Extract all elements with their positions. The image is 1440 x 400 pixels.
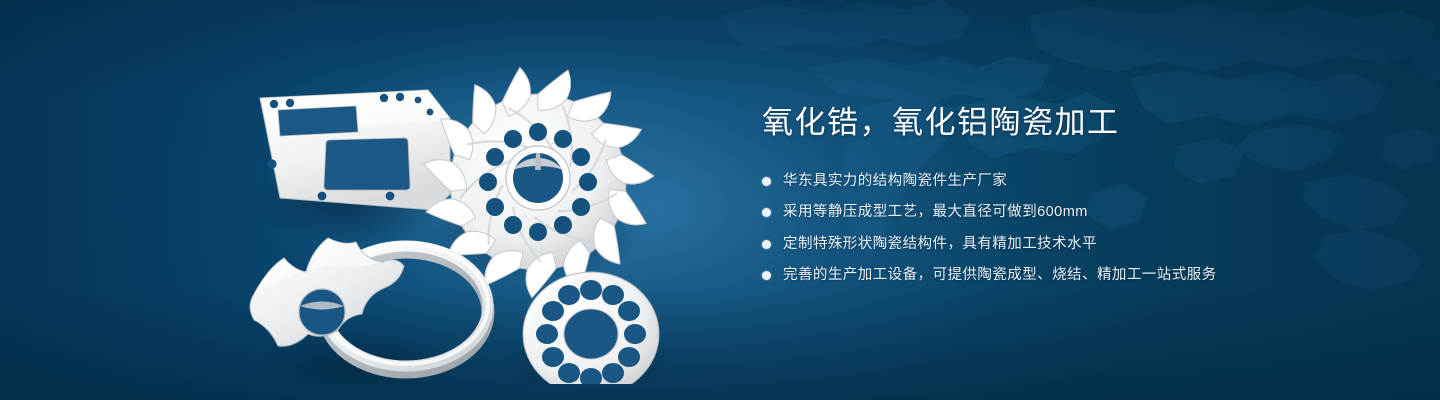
ceramic-hole-disc-part	[523, 272, 659, 384]
bullet-dot-icon	[762, 271, 771, 280]
feature-text: 采用等静压成型工艺，最大直径可做到600mm	[783, 202, 1088, 223]
feature-item: 采用等静压成型工艺，最大直径可做到600mm	[762, 202, 1322, 223]
feature-item: 定制特殊形状陶瓷结构件，具有精加工技术水平	[762, 234, 1322, 255]
ceramic-plate-part	[260, 90, 450, 210]
feature-text: 定制特殊形状陶瓷结构件，具有精加工技术水平	[783, 234, 1097, 255]
bullet-dot-icon	[762, 177, 771, 186]
feature-list: 华东具实力的结构陶瓷件生产厂家 采用等静压成型工艺，最大直径可做到600mm 定…	[762, 171, 1322, 287]
feature-item: 完善的生产加工设备，可提供陶瓷成型、烧结、精加工一站式服务	[762, 265, 1322, 286]
feature-item: 华东具实力的结构陶瓷件生产厂家	[762, 171, 1322, 192]
bullet-dot-icon	[762, 208, 771, 217]
hero-banner: 氧化锆，氧化铝陶瓷加工 华东具实力的结构陶瓷件生产厂家 采用等静压成型工艺，最大…	[0, 0, 1440, 400]
banner-headline: 氧化锆，氧化铝陶瓷加工	[762, 104, 1322, 143]
bullet-dot-icon	[762, 240, 771, 249]
product-image-group	[238, 44, 708, 384]
feature-text: 完善的生产加工设备，可提供陶瓷成型、烧结、精加工一站式服务	[783, 265, 1217, 286]
feature-text: 华东具实力的结构陶瓷件生产厂家	[783, 171, 1007, 192]
banner-copy: 氧化锆，氧化铝陶瓷加工 华东具实力的结构陶瓷件生产厂家 采用等静压成型工艺，最大…	[762, 104, 1322, 297]
